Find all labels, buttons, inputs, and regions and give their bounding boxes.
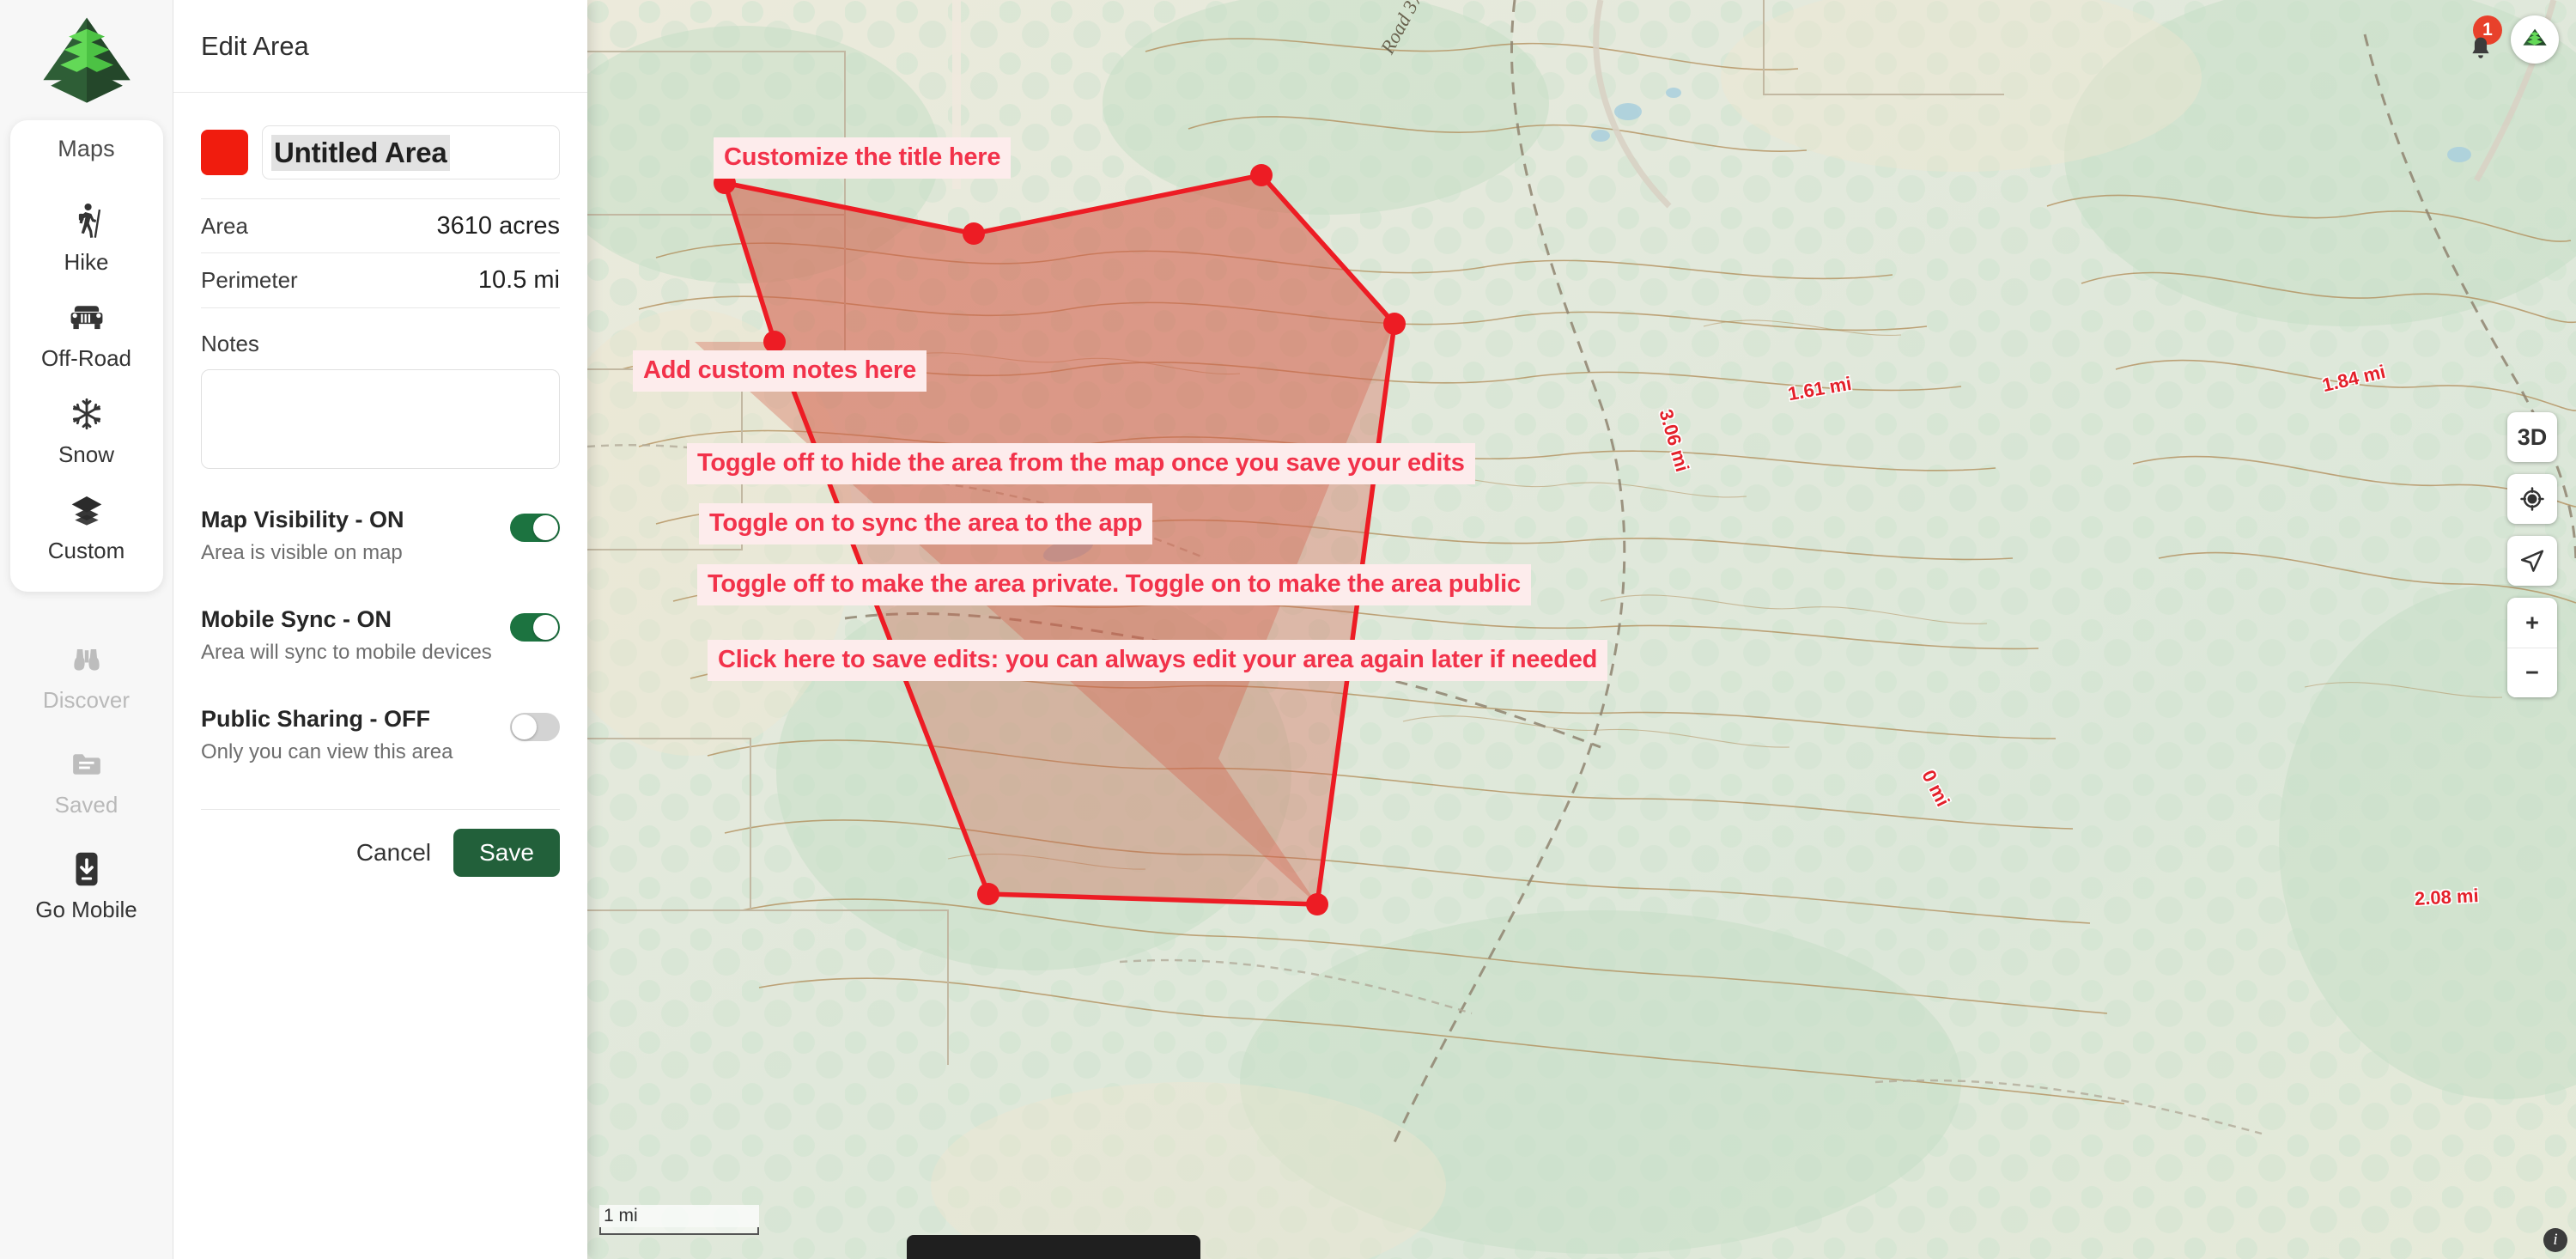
sidebar-item-label: Go Mobile: [35, 897, 137, 923]
map-visibility-switch[interactable]: [510, 514, 560, 542]
callout-map-visibility: Toggle off to hide the area from the map…: [687, 443, 1475, 484]
stats-list: Area 3610 acres Perimeter 10.5 mi: [201, 198, 560, 308]
panel-footer: Cancel Save: [201, 809, 560, 903]
sidebar-item-label: Snow: [58, 441, 114, 468]
stat-label: Area: [201, 213, 248, 240]
left-nav-rail: Maps Hike: [0, 0, 173, 1259]
sidebar-lower-group: Discover Saved: [10, 614, 163, 928]
area-title-input[interactable]: Untitled Area: [262, 125, 560, 179]
folder-icon: [70, 743, 103, 786]
stat-value: 10.5 mi: [478, 266, 560, 295]
callout-customize-title: Customize the title here: [714, 137, 1011, 179]
binoculars-icon: [70, 638, 103, 681]
edit-area-panel: Edit Area Untitled Area Area 3610 acres …: [173, 0, 587, 1259]
zoom-in-button[interactable]: +: [2507, 598, 2557, 648]
toggle-row-public-sharing: Public Sharing - OFF Only you can view t…: [201, 706, 560, 764]
sidebar-item-go-mobile[interactable]: Go Mobile: [10, 824, 163, 928]
app-root: Maps Hike: [0, 0, 2576, 1259]
toggle-title: Mobile Sync - ON: [201, 606, 492, 633]
switch-knob: [533, 515, 558, 540]
sidebar-item-label: Off-Road: [41, 345, 131, 372]
stat-value: 3610 acres: [437, 212, 561, 240]
toggle-title: Public Sharing - OFF: [201, 706, 453, 733]
mobile-sync-switch[interactable]: [510, 613, 560, 642]
sidebar-item-label: Discover: [43, 687, 130, 714]
panel-header: Edit Area: [173, 0, 587, 93]
sidebar-item-off-road[interactable]: Off-Road: [10, 284, 163, 380]
maps-card-title: Maps: [58, 136, 114, 162]
sidebar-item-snow[interactable]: Snow: [10, 380, 163, 477]
notes-label: Notes: [201, 331, 560, 357]
scale-bar-line: [599, 1227, 759, 1235]
color-swatch-button[interactable]: [201, 130, 248, 175]
cancel-button[interactable]: Cancel: [356, 839, 431, 867]
switch-knob: [512, 715, 537, 739]
toggle-row-map-visibility: Map Visibility - ON Area is visible on m…: [201, 507, 560, 565]
toggle-subtitle: Area is visible on map: [201, 541, 404, 565]
sidebar-item-label: Custom: [48, 538, 125, 564]
snowflake-icon: [70, 392, 104, 435]
sidebar-item-custom[interactable]: Custom: [10, 477, 163, 573]
area-title-value: Untitled Area: [271, 135, 450, 171]
info-icon[interactable]: i: [2543, 1228, 2567, 1252]
maps-card: Maps Hike: [10, 120, 163, 592]
panel-body: Untitled Area Area 3610 acres Perimeter …: [173, 93, 587, 1259]
sidebar-item-saved[interactable]: Saved: [10, 719, 163, 824]
callout-save: Click here to save edits: you can always…: [708, 640, 1607, 681]
sidebar-item-hike[interactable]: Hike: [10, 188, 163, 284]
stat-row-perimeter: Perimeter 10.5 mi: [201, 253, 560, 308]
locate-me-button[interactable]: [2507, 474, 2557, 524]
public-sharing-switch[interactable]: [510, 713, 560, 741]
title-row: Untitled Area: [201, 125, 560, 179]
zoom-controls: + −: [2507, 598, 2557, 697]
phone-download-icon: [72, 848, 101, 891]
stat-label: Perimeter: [201, 267, 298, 294]
notes-textarea[interactable]: [201, 369, 560, 469]
navigate-button[interactable]: [2507, 536, 2557, 586]
gaia-gps-logo[interactable]: [39, 12, 134, 106]
scale-label: 1 mi: [599, 1205, 759, 1227]
toggle-subtitle: Only you can view this area: [201, 740, 453, 764]
sidebar-item-label: Saved: [55, 792, 118, 818]
switch-knob: [533, 615, 558, 640]
layers-icon: [70, 489, 104, 532]
sidebar-item-discover[interactable]: Discover: [10, 614, 163, 719]
save-button[interactable]: Save: [453, 829, 560, 877]
stat-row-area: Area 3610 acres: [201, 198, 560, 253]
sidebar-item-label: Hike: [64, 249, 108, 276]
toggle-title: Map Visibility - ON: [201, 507, 404, 533]
bottom-status-bar: [907, 1235, 1200, 1259]
toggle-row-mobile-sync: Mobile Sync - ON Area will sync to mobil…: [201, 606, 560, 665]
callout-add-notes: Add custom notes here: [633, 350, 927, 392]
hiker-icon: [70, 200, 103, 243]
map-controls: 3D + −: [2507, 412, 2557, 697]
scale-bar: 1 mi: [599, 1205, 759, 1235]
zoom-out-button[interactable]: −: [2507, 648, 2557, 697]
jeep-icon: [67, 296, 106, 339]
segment-label: 2.08 mi: [2414, 885, 2479, 910]
page-title: Edit Area: [201, 31, 309, 62]
map-view[interactable]: Hart Gulch andy Road 37 Road 37 1.61 mi …: [587, 0, 2576, 1259]
map-layers-button[interactable]: [2511, 15, 2559, 64]
callout-public-sharing: Toggle off to make the area private. Tog…: [697, 564, 1531, 605]
map-canvas: [587, 0, 2576, 1259]
three-d-toggle-button[interactable]: 3D: [2507, 412, 2557, 462]
toggle-subtitle: Area will sync to mobile devices: [201, 641, 492, 665]
callout-mobile-sync: Toggle on to sync the area to the app: [699, 503, 1152, 544]
bell-icon[interactable]: [2466, 34, 2495, 68]
toggle-list: Map Visibility - ON Area is visible on m…: [201, 507, 560, 806]
